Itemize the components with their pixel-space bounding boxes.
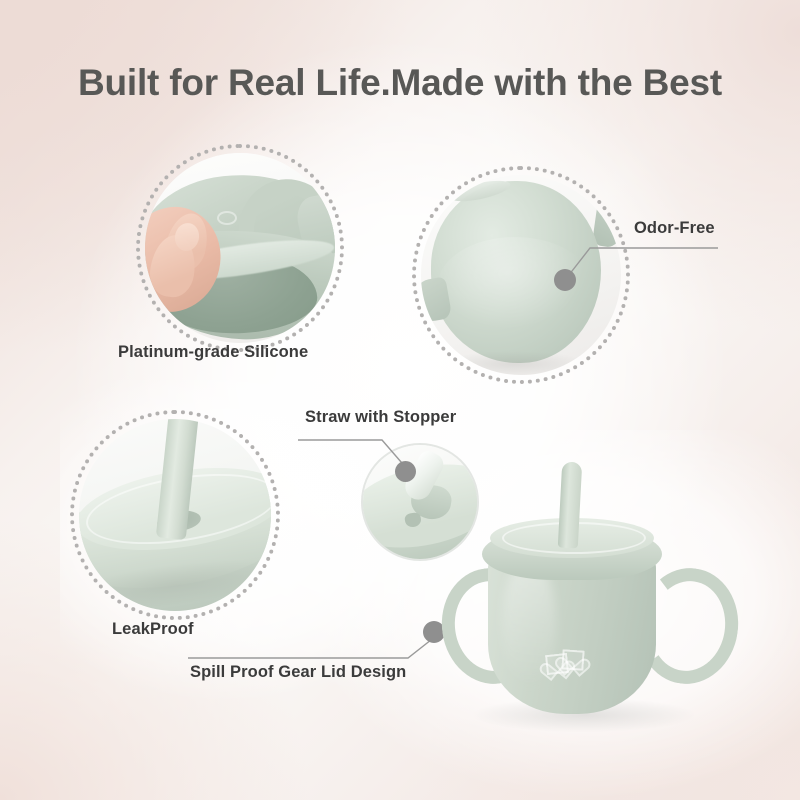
inset-leakproof: [70, 410, 280, 620]
inset-platinum-grade-silicone: [136, 144, 344, 352]
label-odor-free: Odor-Free: [634, 219, 715, 238]
marker-dot-odor-free: [554, 269, 576, 291]
hero-product-image: [440, 470, 740, 770]
photo-lid-straw-seal: [79, 419, 271, 611]
label-platinum-grade-silicone: Platinum-grade Silicone: [118, 343, 308, 362]
product-twin-hearts-emblem: [546, 652, 592, 676]
photo-hand-squeezing-cup: [145, 153, 335, 343]
label-spill-proof-gear-lid-design: Spill Proof Gear Lid Design: [190, 663, 406, 682]
page-title: Built for Real Life.Made with the Best: [0, 62, 800, 104]
product-feature-poster: Built for Real Life.Made with the Best P…: [0, 0, 800, 800]
label-leakproof: LeakProof: [112, 620, 194, 639]
marker-dot-straw-with-stopper: [395, 461, 416, 482]
label-straw-with-stopper: Straw with Stopper: [305, 408, 456, 427]
